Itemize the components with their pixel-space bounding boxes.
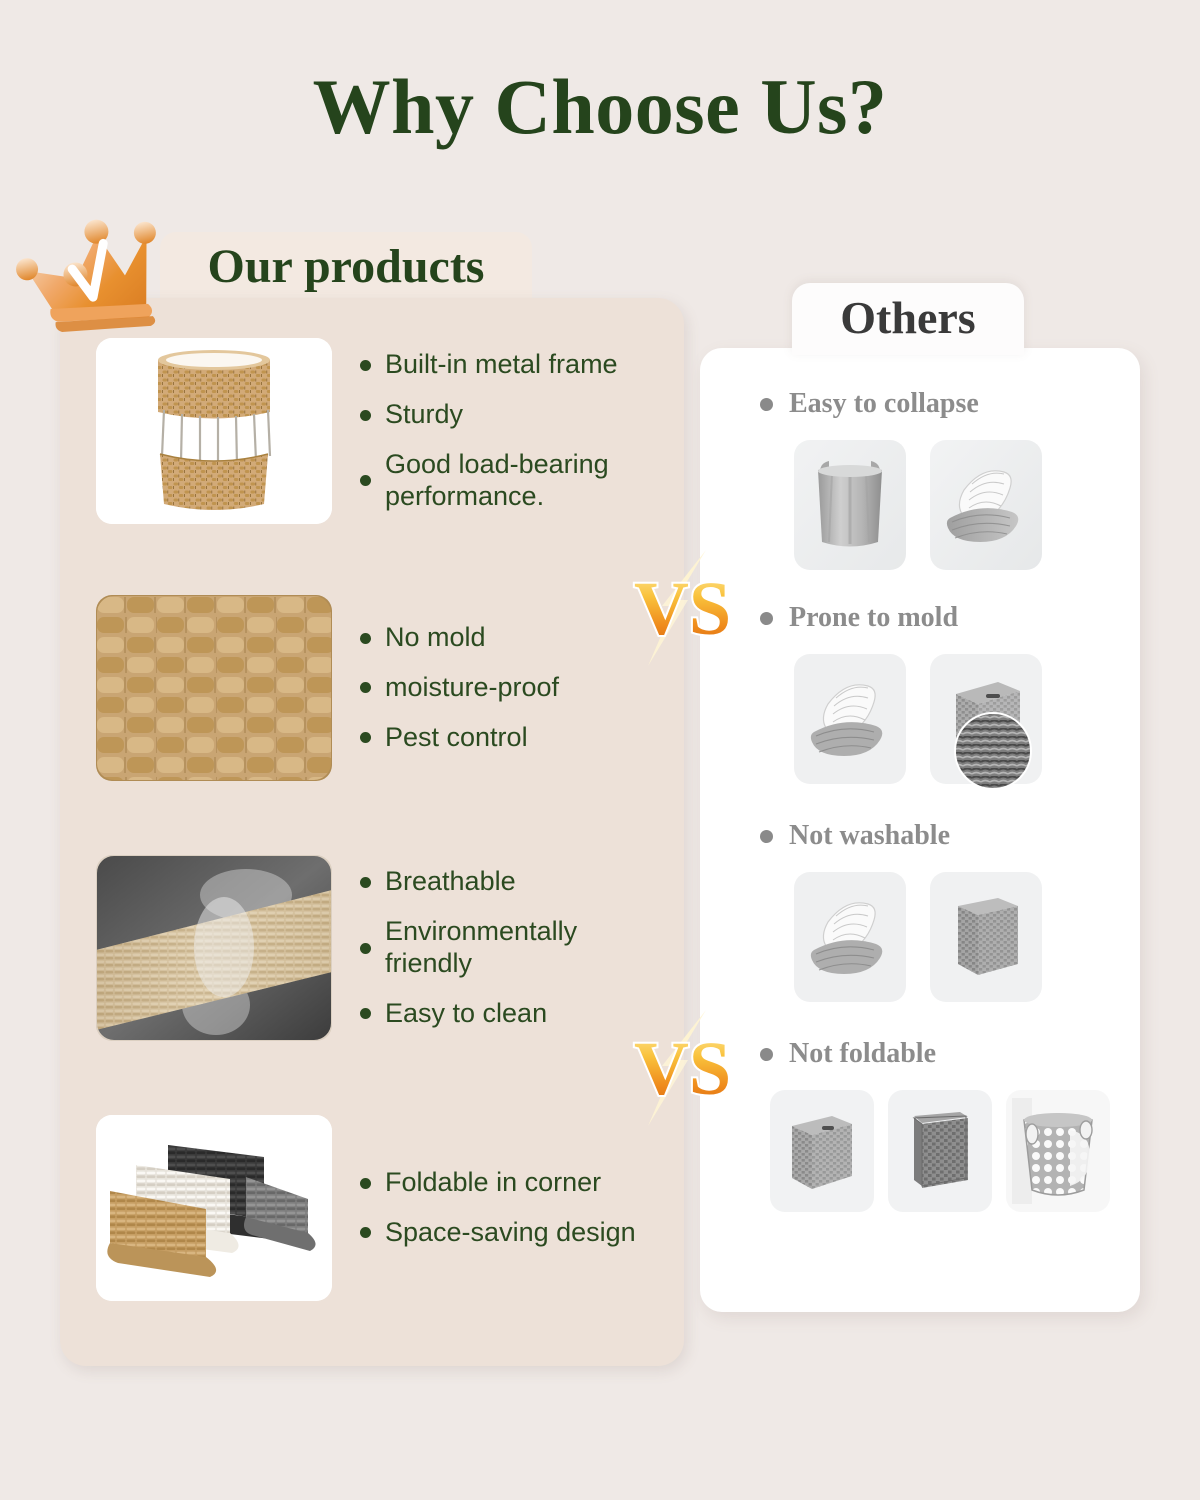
bullet-text: Easy to clean bbox=[385, 998, 547, 1030]
ours-bullet-list: Built-in metal frame Sturdy Good load-be… bbox=[360, 349, 684, 512]
list-item: Pest control bbox=[360, 722, 674, 754]
bullet-text: moisture-proof bbox=[385, 672, 559, 704]
ours-tab: Our products bbox=[160, 232, 532, 306]
others-row-not-foldable: Not foldable bbox=[700, 1034, 1140, 1212]
gray-wicker-hamper-photo bbox=[888, 1090, 992, 1212]
list-item: Good load-bearing performance. bbox=[360, 449, 674, 513]
list-item: Breathable bbox=[360, 866, 674, 898]
collapsed-woven-basket-photo bbox=[794, 872, 906, 1002]
ours-row-foldable: Foldable in corner Space-saving design bbox=[60, 1078, 684, 1338]
others-row-header: Not washable bbox=[700, 816, 1140, 856]
perforated-plastic-basket-photo bbox=[1006, 1090, 1110, 1212]
others-row-images bbox=[700, 1090, 1140, 1212]
gray-woven-hamper-lid-photo bbox=[770, 1090, 874, 1212]
list-item: Environmentally friendly bbox=[360, 916, 674, 980]
bullet-dot-icon bbox=[360, 410, 371, 421]
others-row-label: Not foldable bbox=[789, 1038, 936, 1070]
bullet-dot-icon bbox=[760, 612, 773, 625]
bullet-text: Built-in metal frame bbox=[385, 349, 618, 381]
list-item: moisture-proof bbox=[360, 672, 674, 704]
others-row-label: Easy to collapse bbox=[789, 388, 979, 420]
bullet-dot-icon bbox=[360, 475, 371, 486]
ours-row-metal-frame: Built-in metal frame Sturdy Good load-be… bbox=[60, 298, 684, 558]
ours-panel: Built-in metal frame Sturdy Good load-be… bbox=[60, 298, 684, 1366]
bullet-dot-icon bbox=[360, 1008, 371, 1019]
rattan-weave-closeup-photo bbox=[96, 595, 332, 781]
bullet-text: Sturdy bbox=[385, 399, 463, 431]
list-item: Foldable in corner bbox=[360, 1167, 674, 1199]
bullet-dot-icon bbox=[360, 682, 371, 693]
others-row-images bbox=[700, 440, 1140, 570]
others-row-header: Prone to mold bbox=[700, 598, 1140, 638]
bullet-dot-icon bbox=[760, 398, 773, 411]
others-tab: Others bbox=[792, 283, 1024, 355]
bullet-text: Space-saving design bbox=[385, 1217, 636, 1249]
ours-row-breathable: Breathable Environmentally friendly Easy… bbox=[60, 818, 684, 1078]
others-row-header: Easy to collapse bbox=[700, 384, 1140, 424]
vs-badge: VS bbox=[618, 1008, 728, 1128]
bullet-text: No mold bbox=[385, 622, 486, 654]
bullet-text: Foldable in corner bbox=[385, 1167, 601, 1199]
vs-label: VS bbox=[634, 567, 728, 651]
bullet-dot-icon bbox=[360, 877, 371, 888]
list-item: Space-saving design bbox=[360, 1217, 674, 1249]
breathable-weave-steam-photo bbox=[96, 855, 332, 1041]
others-row-not-washable: Not washable bbox=[700, 816, 1140, 1002]
others-row-label: Prone to mold bbox=[789, 602, 958, 634]
ours-bullet-list: Foldable in corner Space-saving design bbox=[360, 1167, 684, 1249]
others-row-images bbox=[700, 872, 1140, 1002]
collapsed-woven-basket-photo bbox=[794, 654, 906, 784]
gray-woven-hamper-photo bbox=[930, 872, 1042, 1002]
others-tab-label: Others bbox=[840, 295, 975, 343]
page-title: Why Choose Us? bbox=[0, 62, 1200, 152]
bullet-dot-icon bbox=[360, 1227, 371, 1238]
others-row-prone-to-mold: Prone to mold bbox=[700, 598, 1140, 784]
woven-basket-metal-frame-photo bbox=[96, 338, 332, 524]
bullet-dot-icon bbox=[760, 830, 773, 843]
bullet-text: Good load-bearing performance. bbox=[385, 449, 665, 513]
others-panel: Easy to collapse bbox=[700, 348, 1140, 1312]
vs-badge: VS bbox=[618, 548, 728, 668]
bullet-text: Pest control bbox=[385, 722, 528, 754]
bullet-dot-icon bbox=[360, 360, 371, 371]
crown-check-icon bbox=[6, 205, 176, 335]
bullet-dot-icon bbox=[360, 943, 371, 954]
list-item: Built-in metal frame bbox=[360, 349, 674, 381]
others-row-label: Not washable bbox=[789, 820, 950, 852]
list-item: Sturdy bbox=[360, 399, 674, 431]
vs-label: VS bbox=[634, 1027, 728, 1111]
ours-row-no-mold: No mold moisture-proof Pest control bbox=[60, 558, 684, 818]
folded-woven-mats-photo bbox=[96, 1115, 332, 1301]
bullet-dot-icon bbox=[360, 633, 371, 644]
collapsed-woven-basket-photo bbox=[930, 440, 1042, 570]
others-row-images bbox=[700, 654, 1140, 784]
bullet-text: Environmentally friendly bbox=[385, 916, 635, 980]
ours-tab-label: Our products bbox=[208, 243, 485, 295]
gray-fabric-hamper-photo bbox=[794, 440, 906, 570]
others-row-easy-to-collapse: Easy to collapse bbox=[700, 384, 1140, 570]
others-row-header: Not foldable bbox=[700, 1034, 1140, 1074]
bullet-dot-icon bbox=[360, 1178, 371, 1189]
bullet-text: Breathable bbox=[385, 866, 516, 898]
ours-bullet-list: Breathable Environmentally friendly Easy… bbox=[360, 866, 684, 1029]
bullet-dot-icon bbox=[760, 1048, 773, 1061]
mold-closeup-circle-inset bbox=[954, 712, 1032, 790]
bullet-dot-icon bbox=[360, 732, 371, 743]
